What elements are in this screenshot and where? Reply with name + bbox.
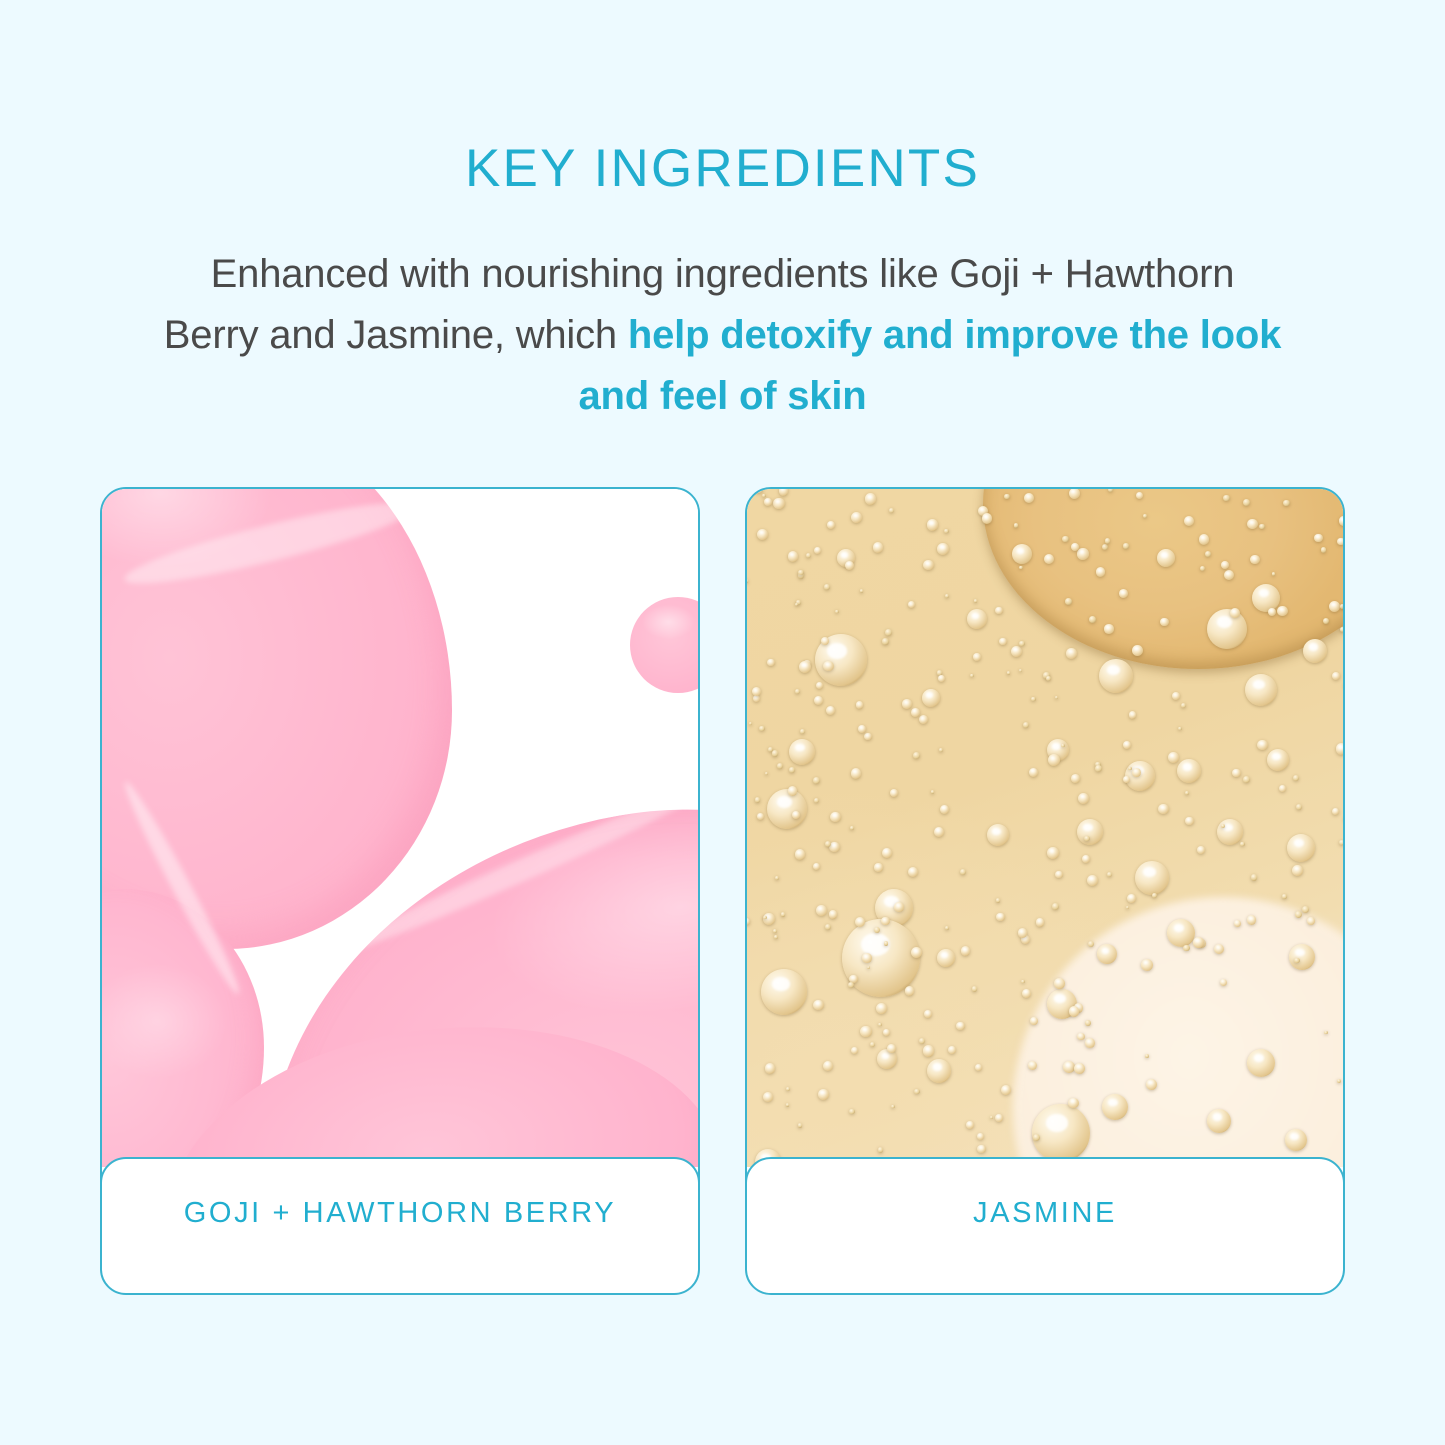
oil-bubble (975, 1064, 982, 1071)
oil-bubble (1307, 917, 1314, 924)
oil-bubble (878, 1147, 884, 1153)
oil-bubble (948, 1046, 956, 1054)
oil-bubble (977, 1133, 984, 1140)
oil-bubble (1024, 493, 1034, 503)
oil-bubble (788, 551, 799, 562)
oil-bubble (1323, 618, 1329, 624)
oil-bubble (944, 529, 949, 534)
oil-bubble (1287, 834, 1315, 862)
oil-bubble (890, 789, 898, 797)
oil-bubble (1143, 514, 1147, 518)
pink-droplet-small-right (630, 597, 698, 693)
subtitle: Enhanced with nourishing ingredients lik… (163, 244, 1283, 426)
oil-bubble (1102, 1094, 1128, 1120)
oil-bubble (798, 570, 804, 576)
oil-bubble (1158, 804, 1168, 814)
oil-bubble (848, 982, 854, 988)
oil-bubble (765, 1063, 776, 1074)
oil-bubble (1185, 817, 1194, 826)
oil-bubble (1068, 1098, 1079, 1109)
oil-bubble (1199, 534, 1209, 544)
oil-bubble (1339, 516, 1343, 526)
oil-bubble (835, 610, 839, 614)
oil-bubble (1223, 495, 1229, 501)
pink-gel-blobs-graphic (102, 489, 698, 1167)
oil-bubble (1018, 928, 1027, 937)
oil-bubble (937, 949, 955, 967)
oil-bubble (996, 913, 1005, 922)
oil-bubble (851, 512, 862, 523)
oil-bubble (924, 1010, 933, 1019)
oil-bubble (966, 1121, 974, 1129)
key-ingredients-panel: KEY INGREDIENTS Enhanced with nourishing… (0, 0, 1445, 1445)
oil-bubble (1321, 547, 1327, 553)
oil-bubble (1247, 915, 1257, 925)
oil-bubble (763, 1092, 773, 1102)
oil-bubble (1207, 609, 1247, 649)
oil-bubble (939, 748, 943, 752)
oil-bubble (777, 763, 783, 769)
oil-bubble (752, 687, 761, 696)
oil-bubble (1243, 499, 1250, 506)
oil-bubble (826, 706, 835, 715)
oil-bubble (825, 841, 831, 847)
oil-bubble (1019, 641, 1025, 647)
oil-bubble (919, 1038, 925, 1044)
oil-bubble (1314, 534, 1322, 542)
oil-bubble (1063, 1061, 1075, 1073)
oil-bubble (1029, 768, 1038, 777)
oil-bubble (911, 708, 920, 717)
oil-bubble (934, 827, 945, 838)
oil-bubble (813, 1000, 824, 1011)
oil-bubble (749, 722, 752, 725)
oil-bubble (967, 609, 987, 629)
oil-bubble (1132, 768, 1141, 777)
oil-bubble (1071, 774, 1080, 783)
oil-bubble (1146, 1079, 1157, 1090)
oil-bubble (938, 675, 945, 682)
oil-bubble (757, 529, 768, 540)
oil-bubble (1193, 937, 1204, 948)
oil-bubble (922, 689, 940, 707)
oil-bubble (1257, 740, 1267, 750)
oil-bubble (908, 601, 915, 608)
oil-bubble (789, 739, 815, 765)
oil-bubble (1332, 808, 1339, 815)
oil-bubble (800, 729, 805, 734)
oil-bubble (885, 629, 892, 636)
oil-bubble (1104, 624, 1113, 633)
oil-bubble (867, 966, 870, 969)
subtitle-highlight-text: help detoxify and improve the look and f… (579, 313, 1282, 418)
oil-bubble (956, 1022, 965, 1031)
oil-bubble (960, 869, 966, 875)
oil-bubble (1012, 544, 1032, 564)
oil-bubble (1054, 978, 1065, 989)
oil-bubble (823, 661, 833, 671)
oil-bubble (882, 638, 888, 644)
ingredient-name-jasmine: JASMINE (973, 1197, 1117, 1230)
oil-bubble (772, 750, 778, 756)
oil-bubble (1332, 672, 1340, 680)
oil-bubble (1224, 570, 1234, 580)
oil-bubble (1207, 1109, 1231, 1133)
oil-bubble (902, 699, 912, 709)
golden-oil-bubbles-graphic (747, 489, 1343, 1167)
oil-bubble (923, 560, 934, 571)
oil-bubble (977, 1145, 986, 1154)
oil-bubble (1032, 1104, 1090, 1162)
oil-bubble (1087, 875, 1099, 887)
oil-bubble (767, 659, 774, 666)
oil-bubble (1077, 1033, 1085, 1041)
oil-bubble (1217, 819, 1243, 845)
oil-bubble (788, 786, 797, 795)
oil-bubble (1295, 911, 1302, 918)
oil-bubble (1168, 752, 1179, 763)
oil-bubble (1145, 1054, 1149, 1058)
oil-bubble (813, 863, 820, 870)
oil-bubble (1178, 727, 1181, 730)
oil-bubble (765, 772, 768, 775)
oil-bubble (940, 805, 949, 814)
oil-bubble (972, 986, 978, 992)
oil-bubble (1030, 1017, 1038, 1025)
oil-bubble (1167, 919, 1195, 947)
oil-bubble (974, 599, 977, 602)
oil-bubble (795, 689, 800, 694)
oil-bubble (1197, 846, 1205, 854)
oil-bubble (1011, 646, 1022, 657)
ingredient-card-list: GOJI + HAWTHORN BERRY JASMINE (100, 487, 1345, 1295)
oil-bubble (795, 849, 806, 860)
oil-bubble (927, 1059, 951, 1083)
oil-bubble (1078, 793, 1089, 804)
oil-bubble (865, 493, 876, 504)
oil-bubble (945, 926, 949, 930)
oil-bubble (1125, 761, 1155, 791)
oil-bubble (914, 1089, 919, 1094)
oil-bubble (1285, 1129, 1307, 1151)
oil-bubble (876, 1003, 887, 1014)
oil-bubble (1152, 893, 1157, 898)
oil-bubble (883, 1029, 890, 1036)
header: KEY INGREDIENTS Enhanced with nourishing… (0, 0, 1445, 427)
oil-bubble (1033, 1134, 1040, 1141)
oil-bubble (1129, 711, 1136, 718)
oil-bubble (1019, 669, 1023, 673)
oil-bubble (927, 519, 938, 530)
oil-bubble (1105, 538, 1110, 543)
oil-bubble (813, 777, 820, 784)
oil-bubble (1220, 979, 1227, 986)
jasmine-label-panel: JASMINE (745, 1157, 1345, 1295)
goji-image (102, 489, 698, 1167)
oil-bubble (1099, 659, 1133, 693)
oil-bubble (1052, 903, 1059, 910)
oil-bubble (908, 867, 918, 877)
oil-bubble (881, 917, 889, 925)
oil-bubble (1023, 722, 1029, 728)
oil-bubble (1123, 741, 1131, 749)
oil-bubble (850, 826, 854, 830)
oil-bubble (1240, 842, 1245, 847)
oil-bubble (851, 1047, 858, 1054)
oil-bubble (1247, 1049, 1275, 1077)
ingredient-name-goji: GOJI + HAWTHORN BERRY (184, 1197, 616, 1230)
oil-bubble (1160, 618, 1168, 626)
oil-bubble (795, 603, 798, 606)
oil-bubble (889, 508, 894, 513)
oil-bubble (1031, 697, 1035, 701)
oil-bubble (1077, 819, 1103, 845)
oil-bubble (1069, 1006, 1079, 1016)
oil-bubble (1183, 945, 1189, 951)
oil-bubble (814, 547, 821, 554)
oil-bubble (878, 1023, 882, 1027)
oil-bubble (806, 553, 811, 558)
oil-bubble (1177, 759, 1201, 783)
oil-bubble (1001, 1085, 1011, 1095)
oil-bubble (774, 935, 778, 939)
oil-bubble (1250, 555, 1259, 564)
goji-label-panel: GOJI + HAWTHORN BERRY (100, 1157, 700, 1295)
oil-bubble (937, 543, 949, 555)
oil-bubble (823, 1061, 833, 1071)
oil-bubble (1123, 543, 1128, 548)
oil-bubble (767, 789, 807, 829)
oil-bubble (995, 607, 1002, 614)
oil-bubble (911, 947, 922, 958)
oil-bubble (1251, 874, 1258, 881)
jasmine-image (747, 489, 1343, 1167)
oil-bubble (913, 752, 920, 759)
oil-bubble (1123, 776, 1130, 783)
oil-bubble (987, 824, 1009, 846)
oil-bubble (789, 767, 795, 773)
oil-bubble (1267, 749, 1289, 771)
oil-bubble (1339, 840, 1343, 846)
page-title: KEY INGREDIENTS (0, 140, 1445, 198)
oil-bubble (1234, 920, 1241, 927)
oil-bubble (1296, 804, 1302, 810)
oil-bubble (1055, 696, 1058, 699)
oil-bubble (757, 813, 765, 821)
oil-bubble (1061, 744, 1064, 747)
oil-bubble (1066, 648, 1076, 658)
oil-bubble (887, 1044, 897, 1054)
oil-bubble (827, 521, 835, 529)
oil-bubble (764, 498, 772, 506)
oil-bubble (1292, 865, 1303, 876)
oil-bubble (1157, 549, 1175, 567)
oil-bubble (1055, 871, 1063, 879)
oil-bubble (860, 1026, 872, 1038)
oil-bubble (1232, 769, 1240, 777)
oil-bubble (814, 798, 819, 803)
oil-bubble (1135, 861, 1169, 895)
oil-bubble (1245, 674, 1277, 706)
oil-bubble (1141, 959, 1153, 971)
oil-bubble (1282, 894, 1286, 898)
oil-bubble (781, 912, 785, 916)
oil-bubble (1181, 703, 1186, 708)
oil-bubble (891, 1105, 895, 1109)
oil-bubble (1279, 785, 1286, 792)
oil-bubble (786, 1087, 791, 1092)
oil-bubble (995, 1114, 1003, 1122)
oil-bubble (882, 848, 893, 859)
oil-bubble (761, 969, 807, 1015)
oil-bubble (845, 561, 854, 570)
oil-bubble (1252, 584, 1280, 612)
oil-bubble (1071, 543, 1079, 551)
oil-bubble (945, 594, 949, 598)
oil-bubble (1088, 941, 1094, 947)
oil-bubble (1069, 489, 1080, 499)
oil-bubble (754, 489, 763, 493)
oil-bubble (973, 653, 980, 660)
oil-bubble (1303, 639, 1327, 663)
oil-bubble (970, 674, 973, 677)
oil-bubble (931, 790, 935, 794)
oil-bubble (1283, 500, 1289, 506)
oil-bubble (894, 902, 904, 912)
oil-bubble (873, 542, 884, 553)
oil-bubble (1046, 676, 1051, 681)
oil-bubble (1268, 608, 1276, 616)
oil-bubble (1221, 561, 1229, 569)
oil-bubble (1340, 627, 1343, 632)
oil-bubble (860, 589, 864, 593)
oil-bubble (1272, 572, 1275, 575)
ingredient-card-goji[interactable]: GOJI + HAWTHORN BERRY (100, 487, 700, 1295)
oil-bubble (779, 489, 789, 496)
oil-bubble (763, 913, 775, 925)
oil-bubble (1107, 872, 1112, 877)
oil-bubble (825, 924, 831, 930)
oil-bubble (830, 812, 840, 822)
ingredient-card-jasmine[interactable]: JASMINE (745, 487, 1345, 1295)
oil-bubble (919, 715, 928, 724)
oil-bubble (858, 725, 866, 733)
oil-bubble (773, 929, 777, 933)
oil-bubble (999, 638, 1006, 645)
oil-bubble (1089, 616, 1096, 623)
oil-bubble (849, 1109, 854, 1114)
oil-bubble (1127, 894, 1136, 903)
oil-bubble (818, 1089, 829, 1100)
oil-bubble (1293, 775, 1299, 781)
oil-bubble (755, 797, 760, 802)
oil-bubble (824, 584, 830, 590)
oil-bubble (874, 927, 880, 933)
oil-bubble (1095, 765, 1102, 772)
oil-bubble (1302, 906, 1309, 913)
oil-bubble (1172, 692, 1180, 700)
oil-bubble (753, 695, 760, 702)
oil-bubble (923, 1045, 935, 1057)
oil-bubble (1085, 1038, 1095, 1048)
oil-bubble (775, 876, 779, 880)
oil-bubble (786, 1103, 790, 1107)
oil-bubble (996, 898, 1000, 902)
oil-bubble (814, 696, 823, 705)
oil-bubble (1097, 944, 1117, 964)
oil-bubble (851, 768, 861, 778)
oil-bubble (1277, 606, 1287, 616)
oil-bubble (864, 733, 871, 740)
oil-bubble (747, 579, 748, 582)
oil-bubble (862, 953, 872, 963)
oil-bubble (1047, 847, 1059, 859)
oil-bubble (1324, 1031, 1328, 1035)
oil-bubble (1085, 1020, 1091, 1026)
oil-bubble (1337, 538, 1343, 545)
oil-bubble (1259, 524, 1265, 530)
oil-bubble (856, 701, 864, 709)
oil-bubble (1007, 671, 1011, 675)
oil-bubble (1132, 645, 1143, 656)
oil-bubble (1128, 767, 1131, 770)
oil-bubble (816, 905, 827, 916)
oil-bubble (1021, 980, 1024, 983)
oil-bubble (762, 494, 765, 497)
oil-bubble (874, 863, 883, 872)
oil-bubble (1289, 944, 1315, 970)
oil-bubble (773, 498, 785, 510)
oil-bubble (798, 1123, 802, 1127)
oil-bubble (1036, 918, 1045, 927)
oil-bubble (747, 918, 750, 925)
oil-bubble (905, 986, 915, 996)
oil-bubble (990, 1116, 993, 1119)
oil-bubble (829, 910, 837, 918)
oil-bubble (961, 946, 970, 955)
oil-bubble (1243, 776, 1250, 783)
oil-bubble (1077, 548, 1088, 559)
oil-bubble (799, 661, 811, 673)
oil-bubble (1126, 906, 1129, 909)
oil-bubble (1062, 536, 1068, 542)
oil-bubble (1004, 494, 1009, 499)
oil-bubble (1048, 754, 1060, 766)
oil-bubble (870, 1042, 875, 1047)
oil-bubble (1082, 855, 1090, 863)
oil-bubble (1247, 519, 1257, 529)
oil-bubble (1185, 791, 1189, 795)
oil-bubble (1022, 989, 1031, 998)
amber-droplet-large (983, 489, 1343, 669)
oil-bubble (759, 726, 764, 731)
oil-bubble (1065, 598, 1072, 605)
oil-bubble (816, 682, 823, 689)
oil-bubble (1336, 743, 1343, 754)
